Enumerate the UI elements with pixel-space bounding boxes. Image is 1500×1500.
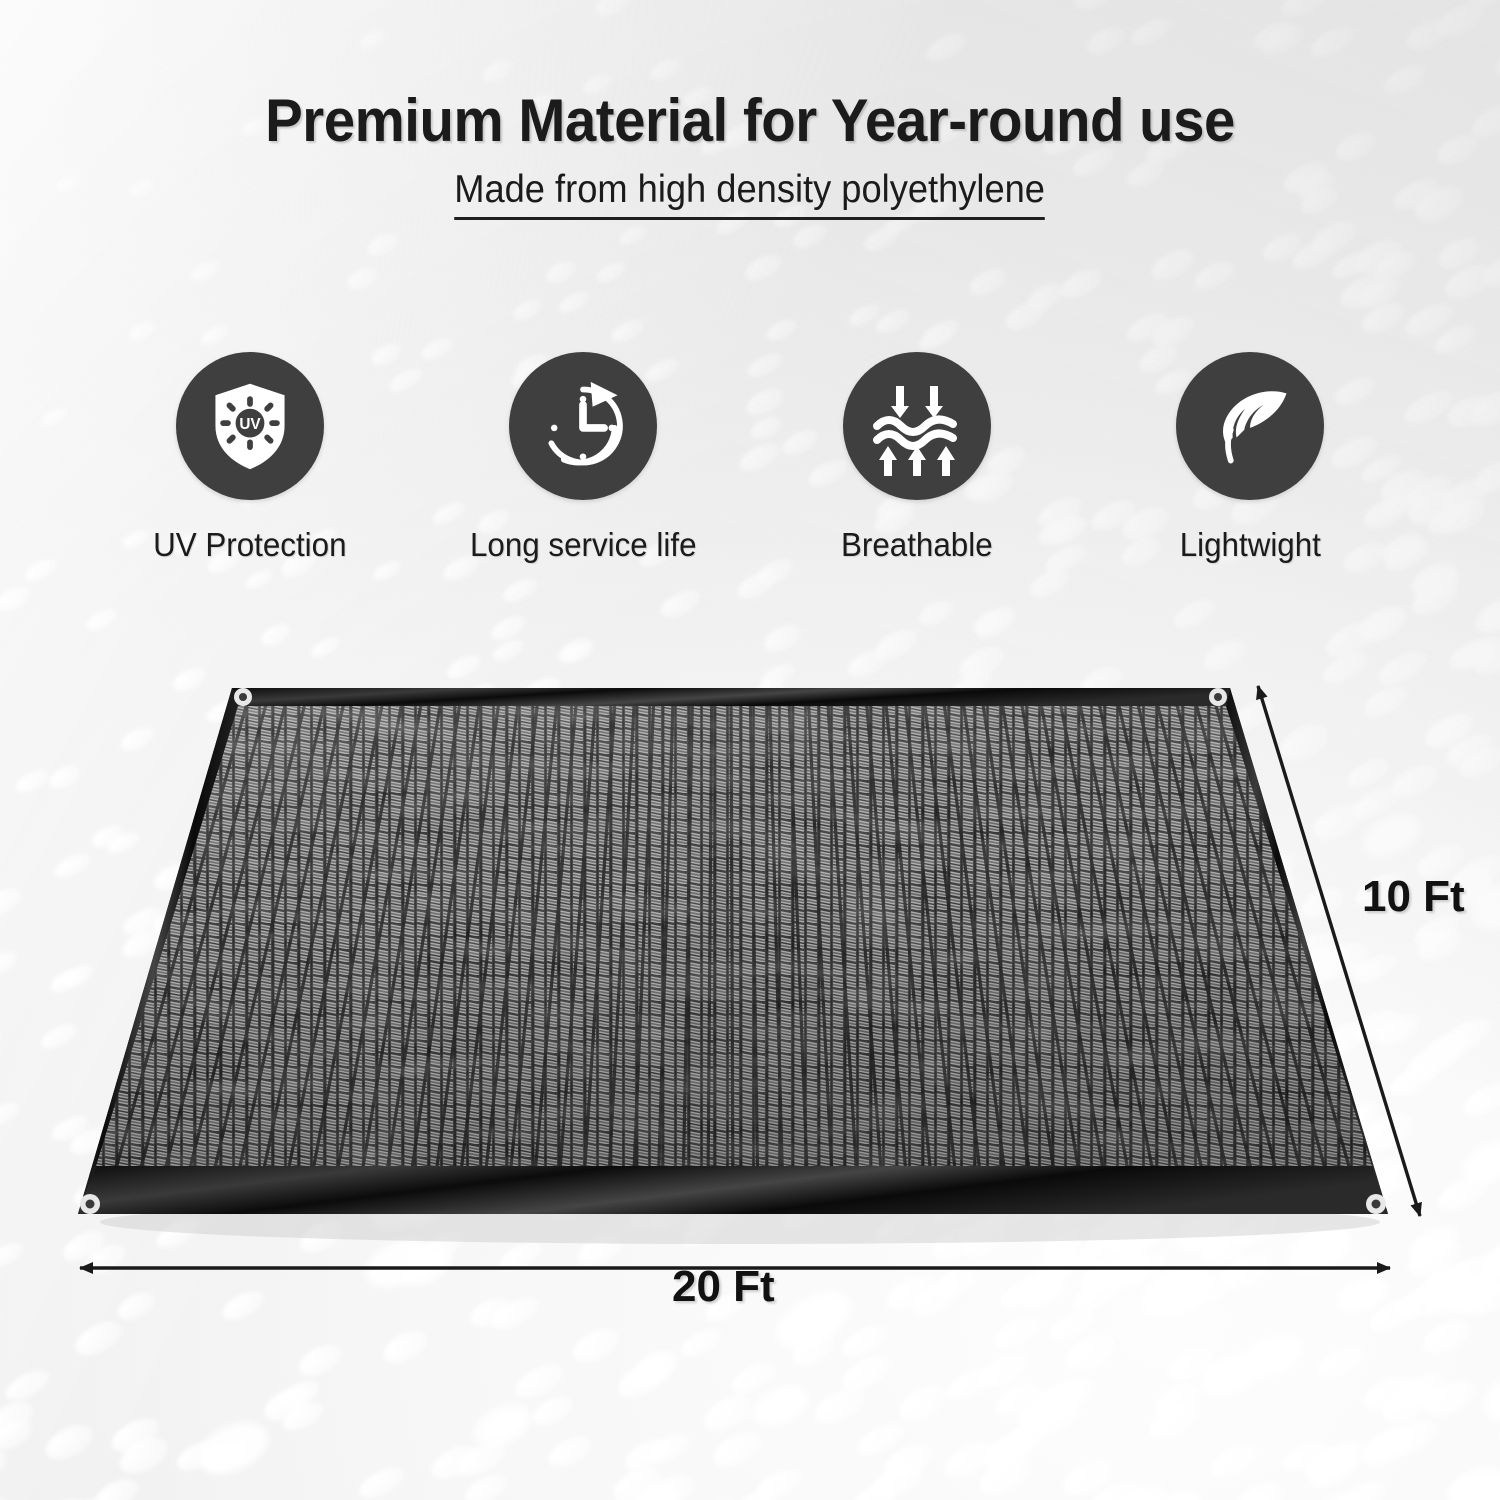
- feature-label: Breathable: [841, 526, 993, 564]
- feature-label: Lightwight: [1179, 526, 1320, 564]
- width-dimension-label: 20 Ft: [672, 1262, 775, 1312]
- page-subtitle: Made from high density polyethylene: [455, 168, 1046, 220]
- feature-list: UV UV Protection: [120, 352, 1380, 564]
- svg-text:UV: UV: [239, 416, 261, 433]
- uv-shield-icon-badge: UV: [176, 352, 324, 500]
- feature-breathable: Breathable: [787, 352, 1047, 564]
- page-subtitle-wrap: Made from high density polyethylene: [0, 168, 1500, 220]
- page-title: Premium Material for Year-round use: [45, 86, 1455, 155]
- feature-long-service-life: Long service life: [453, 352, 713, 564]
- feather-icon-badge: [1176, 352, 1324, 500]
- clock-refresh-icon: [535, 378, 631, 474]
- feather-icon: [1202, 378, 1298, 474]
- airflow-waves-icon-badge: [843, 352, 991, 500]
- feature-label: UV Protection: [153, 526, 346, 564]
- airflow-waves-icon: [867, 376, 967, 476]
- feature-uv-protection: UV UV Protection: [120, 352, 380, 564]
- product-infographic: Premium Material for Year-round use Made…: [0, 0, 1500, 1500]
- height-dimension-label: 10 Ft: [1362, 872, 1465, 922]
- feature-label: Long service life: [470, 526, 697, 564]
- feature-lightweight: Lightwight: [1120, 352, 1380, 564]
- clock-refresh-icon-badge: [509, 352, 657, 500]
- uv-shield-icon: UV: [202, 378, 298, 474]
